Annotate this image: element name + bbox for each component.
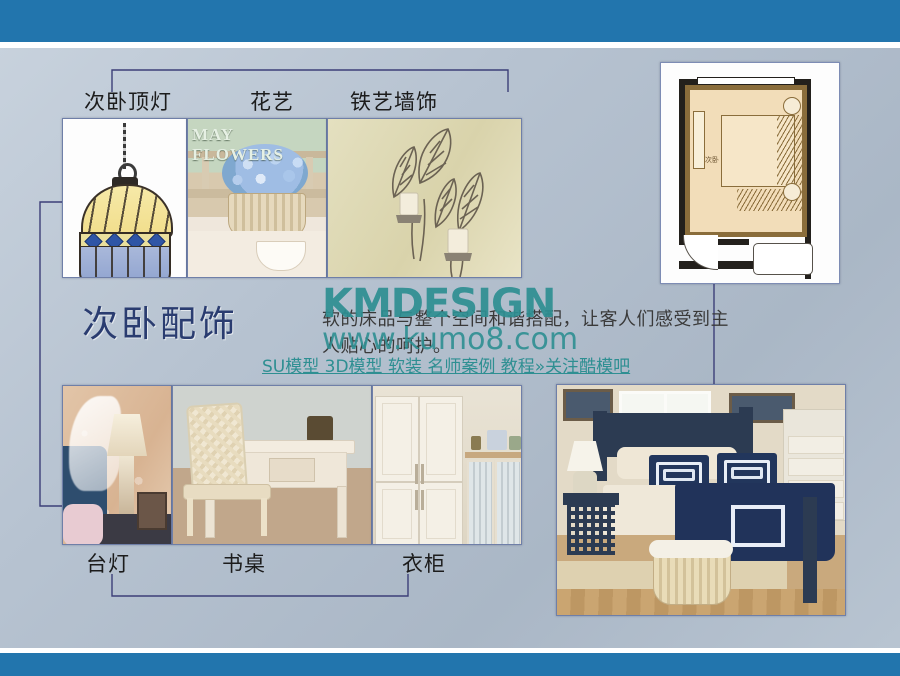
lamp-band xyxy=(79,232,171,248)
image-wardrobe[interactable] xyxy=(372,385,522,545)
desk-drawer xyxy=(269,458,315,482)
floor-plan-thumbnail[interactable]: 次卧 xyxy=(660,62,840,284)
page-title: 次卧配饰 xyxy=(82,295,238,347)
label-bottom-wardrobe: 衣柜 xyxy=(402,548,446,578)
lamp-skirt xyxy=(79,247,171,278)
image-bedroom[interactable] xyxy=(556,384,846,616)
iron-leaf-sconce-icon xyxy=(328,119,522,278)
image-pendant-lamp[interactable] xyxy=(62,118,187,278)
plan-bathtub xyxy=(753,243,813,275)
top-accent-bar xyxy=(0,0,900,42)
may-flowers-caption: MAY FLOWERS xyxy=(192,125,326,165)
label-bottom-desk: 书桌 xyxy=(222,548,266,578)
label-bottom-table-lamp: 台灯 xyxy=(86,548,130,578)
slide-canvas: 次卧顶灯 花艺 铁艺墙饰 MAY FLOWERS xyxy=(0,0,900,676)
plan-window xyxy=(697,77,795,85)
dark-vase xyxy=(307,416,333,442)
bedside-table-top xyxy=(563,493,619,505)
image-flower-arrangement[interactable]: MAY FLOWERS xyxy=(187,118,327,278)
lamp-base xyxy=(119,456,134,514)
image-table-lamp[interactable] xyxy=(62,385,172,545)
pink-pillow xyxy=(63,504,103,545)
picture-frame xyxy=(137,492,167,530)
image-writing-desk[interactable] xyxy=(172,385,372,545)
image-iron-wall-decor[interactable] xyxy=(327,118,522,278)
bedside-table-base xyxy=(567,505,615,555)
rattan-chair-seat xyxy=(183,484,271,500)
label-top-flowers: 花艺 xyxy=(250,86,294,116)
label-top-pendant-lamp: 次卧顶灯 xyxy=(84,86,172,116)
top-accent-divider xyxy=(0,42,900,48)
rattan-chair-back xyxy=(186,402,248,494)
label-top-iron-wall-decor: 铁艺墙饰 xyxy=(350,86,438,116)
watermark-link[interactable]: SU模型 3D模型 软装 名师案例 教程»关注酷模吧 xyxy=(262,352,630,377)
bottom-accent-bar xyxy=(0,653,900,676)
lamp-dome xyxy=(81,184,173,238)
laundry-basket-linens xyxy=(649,540,733,558)
plan-room-label: 次卧 xyxy=(705,155,719,165)
wardrobe-shelf xyxy=(465,452,522,458)
